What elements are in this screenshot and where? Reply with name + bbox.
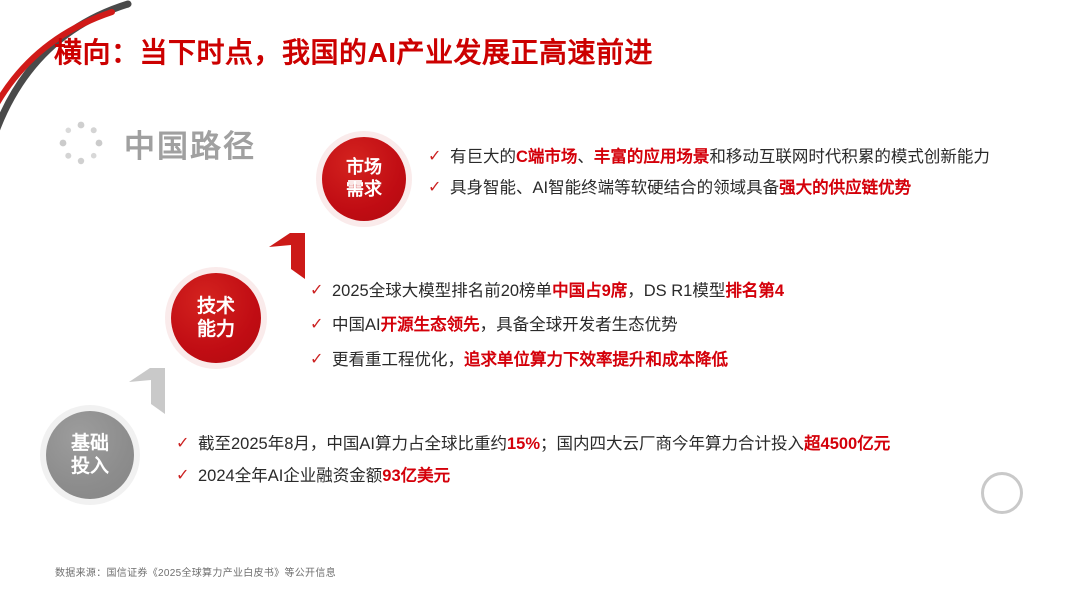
bullet-highlight: 15%: [507, 435, 540, 453]
bullet-plain: 、: [577, 148, 594, 166]
bullet-plain: 有巨大的: [450, 148, 516, 166]
bullet-list-market: ✓有巨大的C端市场、丰富的应用场景和移动互联网时代积累的模式创新能力✓具身智能、…: [428, 146, 990, 209]
bullet-highlight: 超4500亿元: [804, 435, 890, 453]
check-icon: ✓: [310, 280, 332, 302]
bullet-plain: ，DS R1模型: [627, 282, 725, 300]
bullet-item: ✓有巨大的C端市场、丰富的应用场景和移动互联网时代积累的模式创新能力: [428, 146, 990, 168]
bullet-item: ✓更看重工程优化，追求单位算力下效率提升和成本降低: [310, 349, 784, 371]
section-label-text: 中国路径: [124, 121, 256, 166]
source-footnote: 数据来源：国信证券《2025全球算力产业白皮书》等公开信息: [55, 564, 336, 579]
bullet-text: 截至2025年8月，中国AI算力占全球比重约15%；国内四大云厂商今年算力合计投…: [198, 433, 890, 455]
bullet-text: 2024全年AI企业融资金额93亿美元: [198, 465, 450, 487]
check-icon: ✓: [176, 433, 198, 455]
bullet-highlight: 开源生态领先: [381, 316, 480, 334]
bullet-text: 有巨大的C端市场、丰富的应用场景和移动互联网时代积累的模式创新能力: [450, 146, 990, 168]
bullet-item: ✓具身智能、AI智能终端等软硬结合的领域具备强大的供应链优势: [428, 177, 990, 199]
check-icon: ✓: [310, 349, 332, 371]
bubble-tech-line2: 能力: [197, 318, 235, 341]
bubble-base-line2: 投入: [71, 455, 109, 478]
bubble-market-line2: 需求: [346, 179, 382, 201]
dotted-ring-icon: [56, 118, 106, 168]
bullet-plain: 截至2025年8月，中国AI算力占全球比重约: [198, 435, 507, 453]
bullet-item: ✓截至2025年8月，中国AI算力占全球比重约15%；国内四大云厂商今年算力合计…: [176, 433, 890, 455]
bullet-text: 2025全球大模型排名前20榜单中国占9席，DS R1模型排名第4: [332, 280, 784, 302]
check-icon: ✓: [176, 465, 198, 487]
bullet-list-base: ✓截至2025年8月，中国AI算力占全球比重约15%；国内四大云厂商今年算力合计…: [176, 433, 890, 498]
page-title: 横向：当下时点，我国的AI产业发展正高速前进: [54, 31, 653, 71]
bullet-highlight: 排名第4: [725, 282, 784, 300]
bullet-highlight: C端市场: [516, 148, 577, 166]
bubble-tech-capability[interactable]: 技术 能力: [171, 273, 261, 363]
bullet-plain: ，具备全球开发者生态优势: [480, 316, 678, 334]
bullet-text: 中国AI开源生态领先，具备全球开发者生态优势: [332, 314, 678, 336]
bullet-highlight: 93亿美元: [382, 467, 450, 485]
bullet-plain: 更看重工程优化，: [332, 351, 464, 369]
bullet-item: ✓2025全球大模型排名前20榜单中国占9席，DS R1模型排名第4: [310, 280, 784, 302]
bullet-highlight: 丰富的应用场景: [594, 148, 710, 166]
bullet-plain: ；国内四大云厂商今年算力合计投入: [540, 435, 804, 453]
circle-outline-icon: [981, 472, 1023, 514]
bullet-text: 具身智能、AI智能终端等软硬结合的领域具备强大的供应链优势: [450, 177, 911, 199]
bullet-highlight: 强大的供应链优势: [779, 179, 911, 197]
bullet-text: 更看重工程优化，追求单位算力下效率提升和成本降低: [332, 349, 728, 371]
check-icon: ✓: [428, 177, 450, 199]
bullet-item: ✓中国AI开源生态领先，具备全球开发者生态优势: [310, 314, 784, 336]
bullet-plain: 具身智能、AI智能终端等软硬结合的领域具备: [450, 179, 779, 197]
bubble-base-investment[interactable]: 基础 投入: [46, 411, 134, 499]
bubble-tech-line1: 技术: [197, 295, 235, 318]
section-label-group: 中国路径: [56, 118, 256, 168]
bullet-highlight: 中国占9席: [552, 282, 627, 300]
check-icon: ✓: [428, 146, 450, 168]
bubble-market-demand[interactable]: 市场 需求: [322, 137, 406, 221]
chevron-corner-icon-red: [266, 231, 312, 286]
check-icon: ✓: [310, 314, 332, 336]
bullet-plain: 中国AI: [332, 316, 381, 334]
bullet-highlight: 追求单位算力下效率提升和成本降低: [464, 351, 728, 369]
bullet-plain: 2025全球大模型排名前20榜单: [332, 282, 552, 300]
slide-canvas: 横向：当下时点，我国的AI产业发展正高速前进 中国路径 市场 需求 技术 能力 …: [0, 0, 1080, 608]
bubble-market-line1: 市场: [346, 157, 382, 179]
bullet-plain: 2024全年AI企业融资金额: [198, 467, 382, 485]
chevron-corner-icon-gray: [126, 366, 172, 421]
bullet-item: ✓2024全年AI企业融资金额93亿美元: [176, 465, 890, 487]
bullet-plain: 和移动互联网时代积累的模式创新能力: [709, 148, 990, 166]
bubble-base-line1: 基础: [71, 432, 109, 455]
bullet-list-tech: ✓2025全球大模型排名前20榜单中国占9席，DS R1模型排名第4✓中国AI开…: [310, 280, 784, 383]
